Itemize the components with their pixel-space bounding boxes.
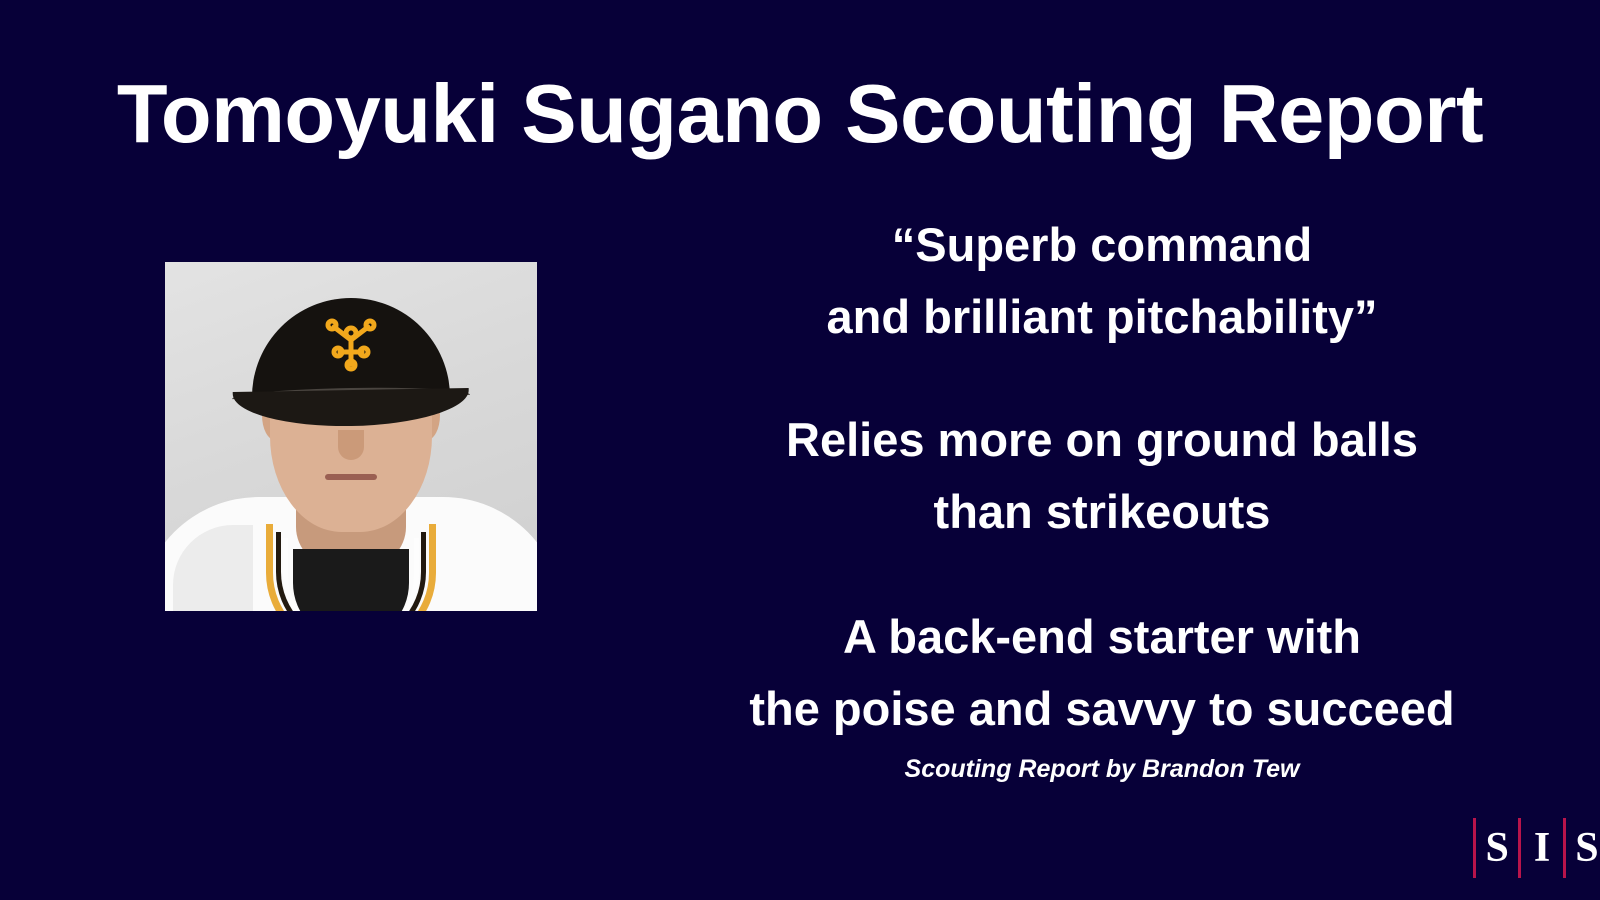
sis-logo: S I S (1492, 814, 1592, 882)
report-line: “Superb command (702, 209, 1502, 281)
slide-canvas: Tomoyuki Sugano Scouting Report (0, 0, 1600, 900)
page-title: Tomoyuki Sugano Scouting Report (0, 72, 1600, 155)
report-block-3: A back-end starter with the poise and sa… (702, 601, 1502, 745)
logo-letter-i: I (1521, 818, 1563, 878)
report-line: the poise and savvy to succeed (702, 673, 1502, 745)
nose (338, 430, 364, 460)
logo-letter-s1: S (1476, 818, 1517, 878)
report-block-2: Relies more on ground balls than strikeo… (702, 404, 1502, 548)
attribution-credit: Scouting Report by Brandon Tew (702, 752, 1502, 786)
report-block-1: “Superb command and brilliant pitchabili… (702, 209, 1502, 353)
player-headshot-photo (165, 262, 537, 611)
report-line: than strikeouts (702, 476, 1502, 548)
logo-letter-s2: S (1566, 818, 1600, 878)
mouth (325, 474, 377, 480)
collar-white-trim (283, 538, 419, 611)
report-line: Relies more on ground balls (702, 404, 1502, 476)
report-line: and brilliant pitchability” (702, 281, 1502, 353)
giants-cap-logo-icon (321, 316, 381, 372)
report-line: A back-end starter with (702, 601, 1502, 673)
